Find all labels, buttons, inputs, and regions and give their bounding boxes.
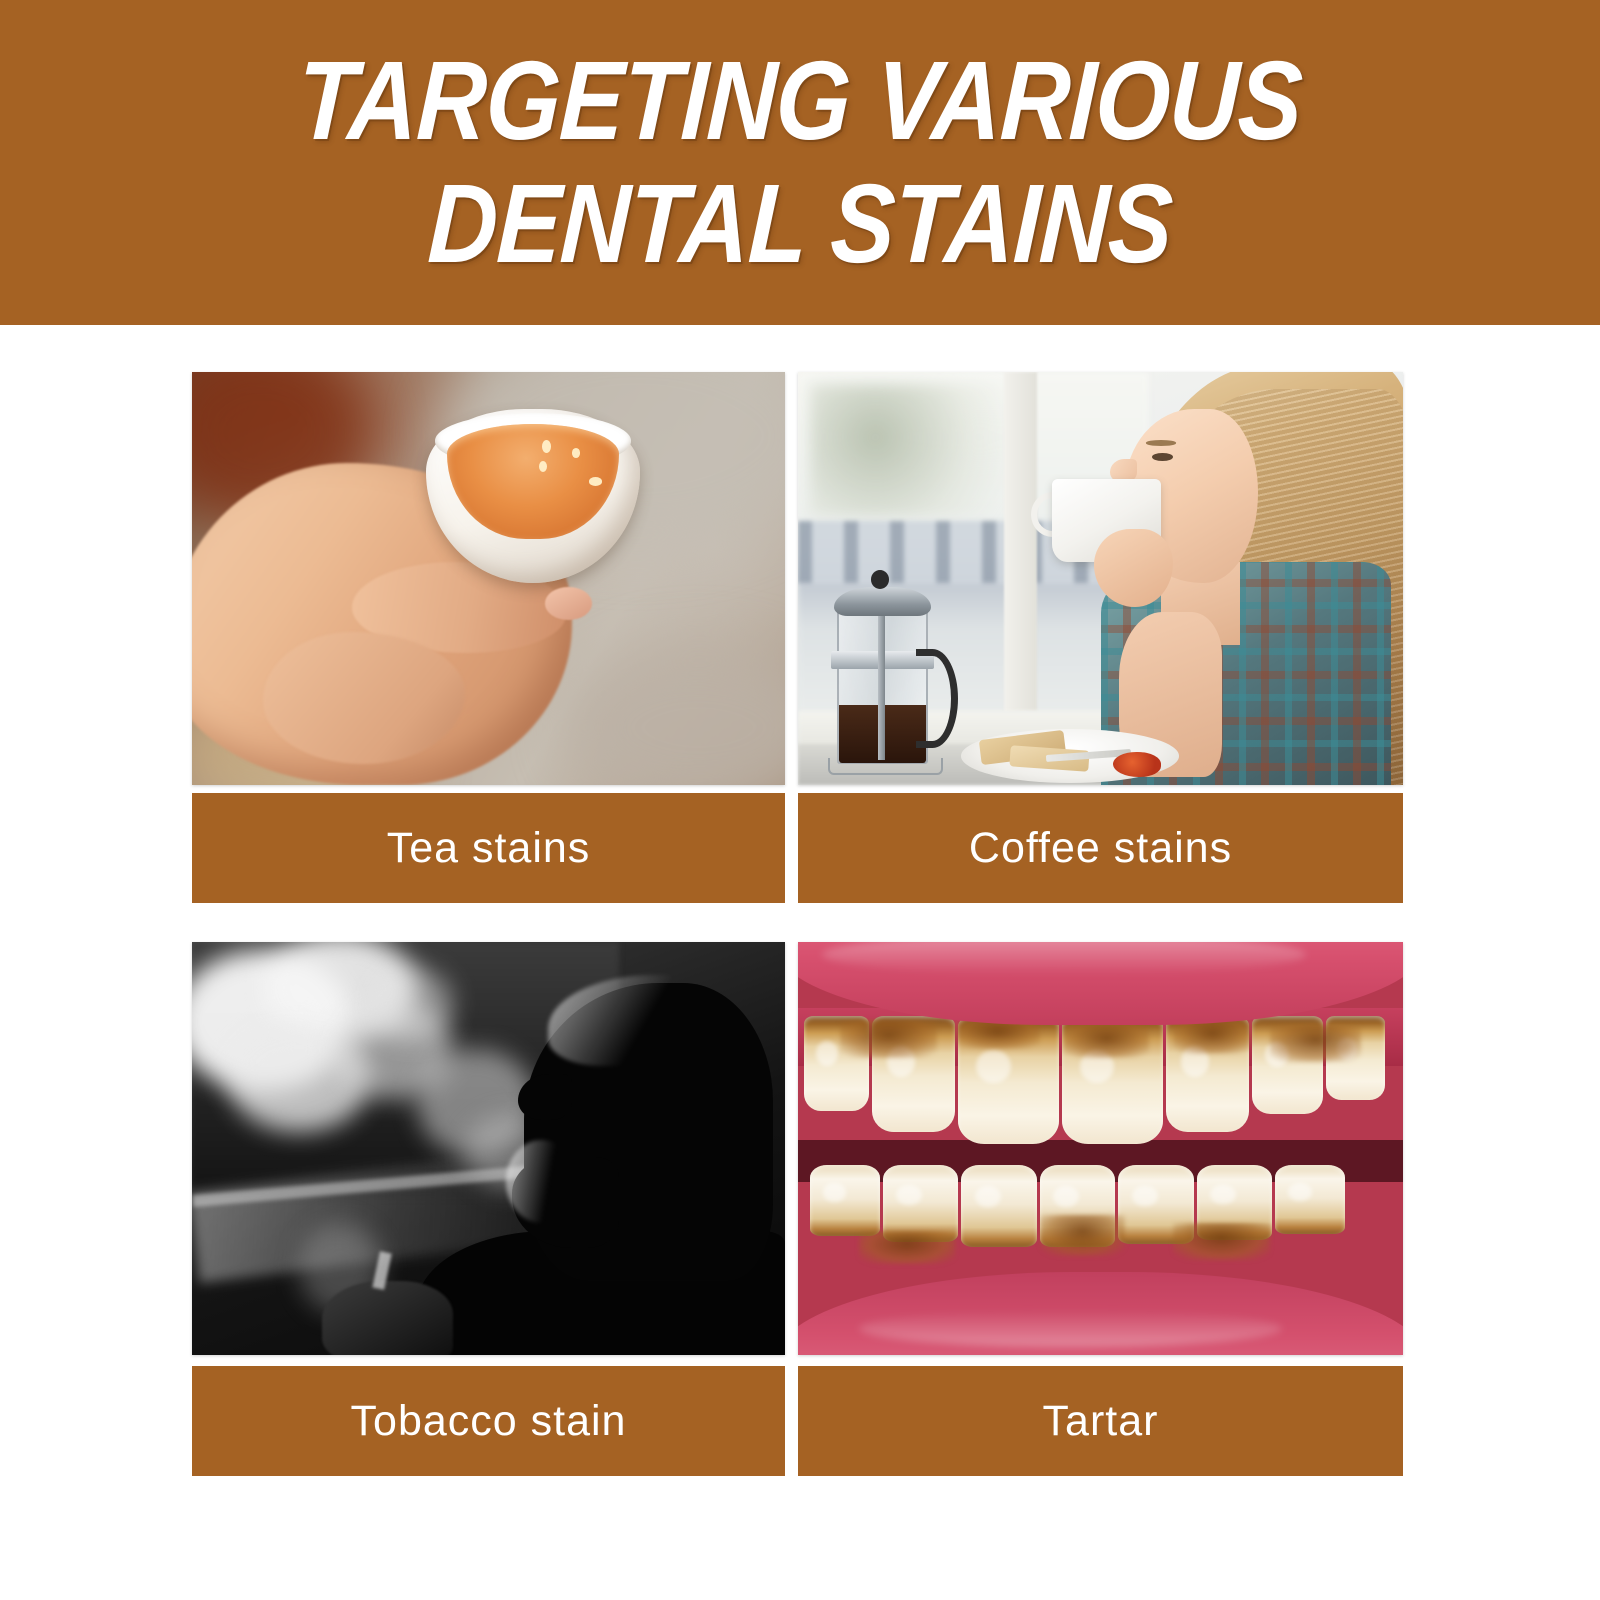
french-press-lid [834,587,931,616]
tobacco-photo [192,942,785,1355]
page-title-line-2: DENTAL STAINS [426,167,1174,281]
caption-bar-tea-wrapper: Tea stains [192,793,785,942]
stain-grid: Tea stains Coffee stains [192,372,1403,1533]
tartar-stain [840,1020,937,1057]
tartar-stain [1173,1020,1252,1053]
tartar-stain [859,1231,956,1264]
tooth [810,1165,880,1236]
tartar-stain [1040,1215,1125,1256]
caption-bar-tartar-wrapper: Tartar [798,1366,1403,1516]
highlight-glint [589,477,602,485]
foliage-blur [810,384,1028,516]
caption-label-tartar: Tartar [1043,1397,1159,1446]
tartar-stain [1064,1025,1149,1058]
tartar-stain [955,1020,1040,1049]
eye-shape [1152,453,1173,461]
caption-bar-tobacco-wrapper: Tobacco stain [192,1366,785,1516]
page-title-line-1: TARGETING VARIOUS [295,44,1304,158]
eyebrow-shape [1146,440,1176,445]
hand-silhouette [322,1281,452,1355]
caption-label-tobacco: Tobacco stain [351,1397,627,1446]
caption-label-tea: Tea stains [387,824,591,873]
caption-bar-tobacco: Tobacco stain [192,1366,785,1476]
grid-cell-tobacco [192,942,785,1366]
header-banner: TARGETING VARIOUS DENTAL STAINS [0,0,1600,325]
tartar-stain [1270,1025,1361,1062]
grid-cell-coffee [798,372,1403,793]
grid-cell-tartar [798,942,1403,1366]
window-frame [1004,372,1037,711]
smoke-cloud [370,967,453,1041]
tea-background-blob [566,645,785,785]
tartar-stain [1173,1223,1270,1260]
tea-photo [192,372,785,785]
caption-bar-coffee: Coffee stains [798,793,1403,903]
tooth [1275,1165,1345,1234]
lower-lip-highlight [859,1310,1283,1347]
caption-bar-tea: Tea stains [192,793,785,903]
fingernail-shape [545,587,592,620]
french-press-knob [871,570,889,589]
rim-light [506,1140,577,1223]
coffee-photo [798,372,1403,785]
caption-label-coffee: Coffee stains [969,824,1232,873]
tooth [961,1165,1037,1247]
french-press-plunger [878,603,884,760]
grid-cell-tea [192,372,785,793]
caption-bar-coffee-wrapper: Coffee stains [798,793,1403,942]
jam-portion [1113,752,1161,777]
caption-bar-tartar: Tartar [798,1366,1403,1476]
tartar-photo [798,942,1403,1355]
nose-silhouette [518,1074,571,1119]
